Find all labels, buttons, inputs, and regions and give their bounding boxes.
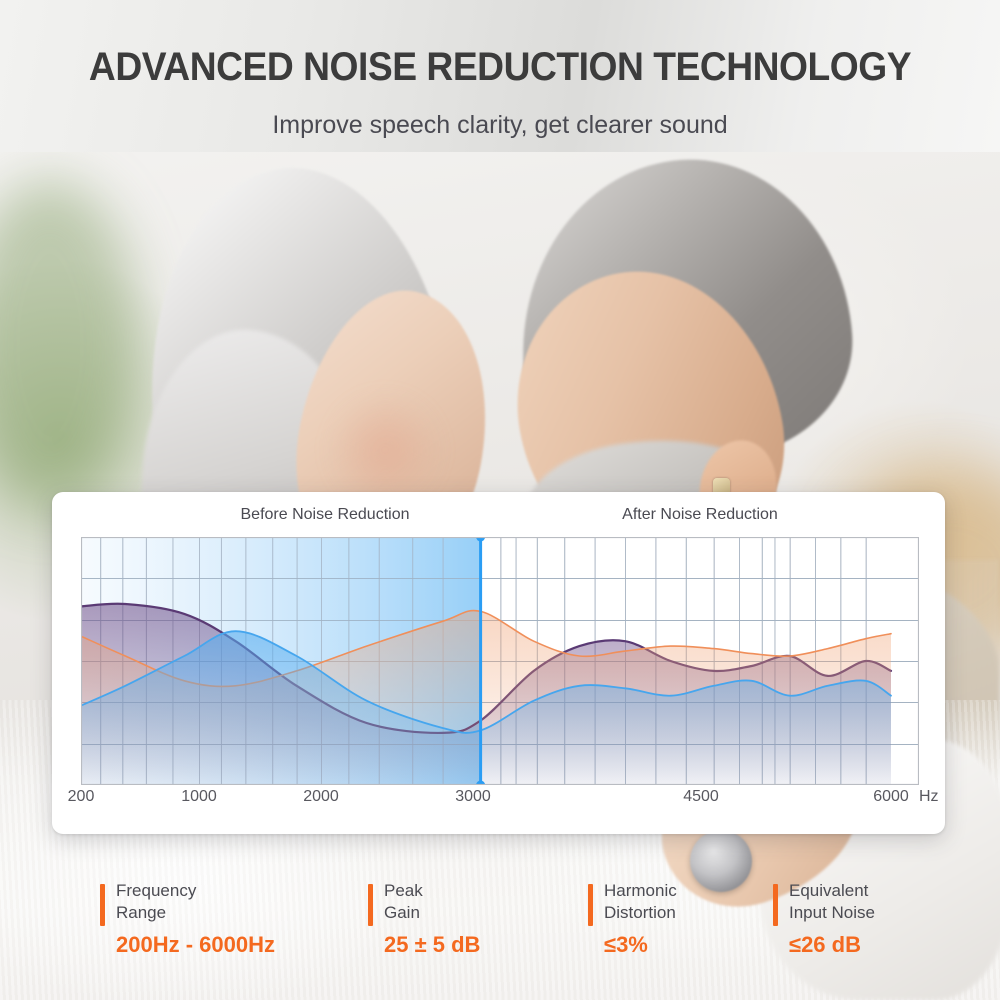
spec-value: 200Hz - 6000Hz	[116, 932, 275, 958]
label-after-noise-reduction: After Noise Reduction	[522, 506, 878, 524]
spec-accent-bar	[588, 884, 593, 926]
x-axis-tick-labels: 20010002000300045006000Hz	[81, 788, 941, 812]
x-tick-4500: 4500	[683, 788, 719, 806]
chart-svg	[81, 537, 919, 785]
page-title: ADVANCED NOISE REDUCTION TECHNOLOGY	[35, 44, 965, 90]
spec-label: FrequencyRange	[116, 880, 196, 924]
spec-value: ≤3%	[604, 932, 648, 958]
x-tick-200: 200	[68, 788, 95, 806]
frequency-response-plot	[81, 537, 919, 785]
spec-item-1: PeakGain25 ± 5 dB	[368, 880, 568, 972]
x-tick-6000: 6000	[873, 788, 909, 806]
spec-accent-bar	[773, 884, 778, 926]
x-tick-2000: 2000	[303, 788, 339, 806]
chart-series	[81, 604, 891, 785]
x-axis-unit-label: Hz	[919, 788, 939, 806]
spec-item-2: HarmonicDistortion≤3%	[588, 880, 763, 972]
x-tick-3000: 3000	[455, 788, 491, 806]
spec-item-3: EquivalentInput Noise≤26 dB	[773, 880, 973, 972]
chart-section-labels: Before Noise Reduction After Noise Reduc…	[52, 506, 945, 532]
header-band: ADVANCED NOISE REDUCTION TECHNOLOGY Impr…	[0, 0, 1000, 152]
poster-stage: ADVANCED NOISE REDUCTION TECHNOLOGY Impr…	[0, 0, 1000, 1000]
spec-item-0: FrequencyRange200Hz - 6000Hz	[100, 880, 350, 972]
x-tick-1000: 1000	[181, 788, 217, 806]
spec-value: 25 ± 5 dB	[384, 932, 480, 958]
page-subtitle: Improve speech clarity, get clearer soun…	[0, 110, 1000, 140]
spec-strip: FrequencyRange200Hz - 6000HzPeakGain25 ±…	[0, 880, 1000, 980]
spec-accent-bar	[368, 884, 373, 926]
spec-accent-bar	[100, 884, 105, 926]
chart-card: Before Noise Reduction After Noise Reduc…	[52, 492, 945, 834]
spec-label: HarmonicDistortion	[604, 880, 677, 924]
label-before-noise-reduction: Before Noise Reduction	[180, 506, 470, 524]
spec-label: EquivalentInput Noise	[789, 880, 875, 924]
spec-label: PeakGain	[384, 880, 423, 924]
spec-value: ≤26 dB	[789, 932, 861, 958]
